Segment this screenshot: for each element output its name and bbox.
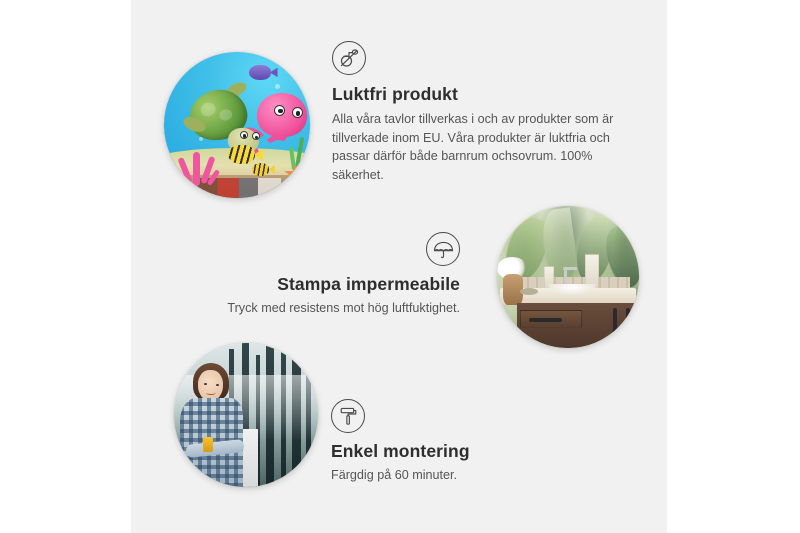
umbrella-icon (426, 232, 460, 266)
feature-block-waterproof: Stampa impermeabile Tryck med resistens … (210, 232, 460, 318)
feature-description: Färgdig på 60 minuter. (331, 466, 581, 485)
feature-block-odorless: Luktfri produkt Alla våra tavlor tillver… (332, 41, 624, 185)
faucet (564, 267, 567, 285)
feature-title: Luktfri produkt (332, 84, 624, 105)
coral-illustration (176, 137, 223, 187)
paint-can (203, 437, 213, 453)
small-fish-illustration (252, 163, 270, 176)
promo-infographic: Luktfri produkt Alla våra tavlor tillver… (0, 0, 800, 533)
woman-face (198, 370, 222, 400)
turtle-eye (252, 132, 260, 140)
no-odor-spray-bottle-icon (332, 41, 366, 75)
underwater-cartoon-circle-photo (164, 52, 310, 198)
yellow-fish-illustration (228, 145, 254, 164)
bathroom-botanical-circle-photo (497, 206, 639, 348)
feature-description: Tryck med resistens mot hög luftfuktighe… (210, 299, 460, 318)
cabinet-handle (626, 308, 630, 334)
turtle-eye (240, 131, 248, 139)
woman-smile (206, 391, 216, 395)
drawer-handle (529, 318, 562, 322)
vanity-cabinet (517, 303, 636, 348)
feature-title: Enkel montering (331, 441, 581, 462)
woman-forest-mural-circle-photo (174, 343, 318, 487)
octopus-eye (274, 105, 285, 116)
purple-fish-illustration (249, 65, 271, 80)
woman-eye (216, 384, 219, 386)
cabinet-handle (613, 308, 617, 334)
feature-title: Stampa impermeabile (210, 274, 460, 295)
feature-description: Alla våra tavlor tillverkas i och av pro… (332, 110, 624, 185)
feature-block-easy-assembly: Enkel montering Färgdig på 60 minuter. (331, 399, 581, 485)
paint-roller-icon (331, 399, 365, 433)
